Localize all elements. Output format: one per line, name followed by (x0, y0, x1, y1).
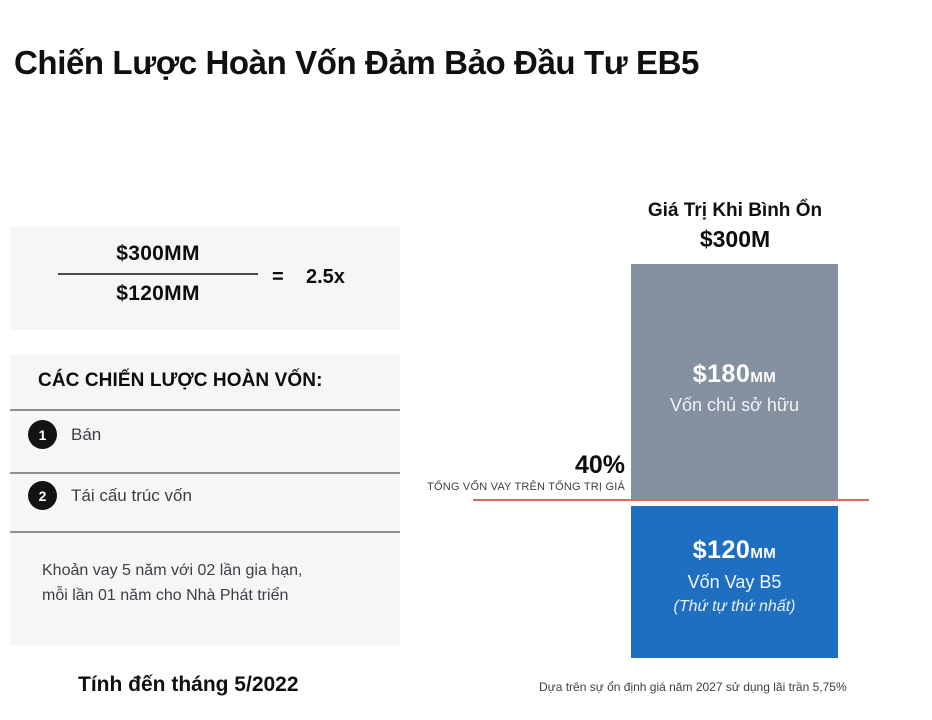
ltv-percent: 40% (425, 451, 625, 480)
chart-total-value: $300M (620, 226, 850, 253)
ratio-card: $300MM $120MM = 2.5x (10, 227, 400, 330)
chart-title: Giá Trị Khi Bình Ổn (620, 200, 850, 222)
ratio-denominator: $120MM (58, 279, 258, 309)
strategies-heading: CÁC CHIẾN LƯỢC HOÀN VỐN: (38, 370, 323, 392)
divider-middle (10, 472, 400, 474)
as-of-date: Tính đến tháng 5/2022 (78, 673, 299, 697)
debt-sublabel: (Thứ tự thứ nhất) (631, 598, 838, 616)
equity-amount-unit: MM (750, 369, 776, 386)
strategy-label: Bán (71, 425, 101, 445)
ratio-result: 2.5x (306, 266, 345, 289)
equity-amount-value: $180 (693, 360, 751, 388)
strategy-label: Tái cấu trúc vốn (71, 486, 192, 506)
ltv-threshold-line (473, 499, 869, 501)
ratio-numerator: $300MM (58, 239, 258, 269)
footnote: Dựa trên sự ổn định giá năm 2027 sử dụng… (539, 680, 847, 694)
divider-top (10, 409, 400, 411)
debt-amount-unit: MM (750, 545, 776, 562)
strategy-number-badge: 1 (28, 420, 57, 449)
fraction-bar (58, 273, 258, 275)
debt-label: Vốn Vay B5 (631, 572, 838, 593)
bar-segment-debt: $120MM Vốn Vay B5 (Thứ tự thứ nhất) (631, 506, 838, 658)
bar-segment-equity: $180MM Vốn chủ sở hữu (631, 264, 838, 499)
debt-amount-value: $120 (693, 536, 751, 564)
loan-note-line-2: mỗi lần 01 năm cho Nhà Phát triển (42, 583, 302, 608)
strategy-item-1[interactable]: 1 Bán (28, 420, 101, 449)
equals-sign: = (272, 266, 284, 289)
equity-amount: $180MM (631, 360, 838, 389)
ltv-caption: TỔNG VỐN VAY TRÊN TỔNG TRỊ GIÁ (405, 481, 625, 493)
strategies-card: CÁC CHIẾN LƯỢC HOÀN VỐN: 1 Bán 2 Tái cấu… (10, 355, 400, 645)
equity-label: Vốn chủ sở hữu (631, 395, 838, 416)
loan-note: Khoản vay 5 năm với 02 lần gia hạn, mỗi … (42, 558, 302, 608)
debt-amount: $120MM (631, 536, 838, 565)
ratio-fraction: $300MM $120MM (58, 239, 258, 309)
page-title: Chiến Lược Hoàn Vốn Đảm Bảo Đầu Tư EB5 (14, 44, 699, 82)
divider-bottom (10, 531, 400, 533)
loan-note-line-1: Khoản vay 5 năm với 02 lần gia hạn, (42, 558, 302, 583)
slide-canvas: Chiến Lược Hoàn Vốn Đảm Bảo Đầu Tư EB5 $… (0, 0, 932, 720)
strategy-number-badge: 2 (28, 481, 57, 510)
strategy-item-2[interactable]: 2 Tái cấu trúc vốn (28, 481, 192, 510)
